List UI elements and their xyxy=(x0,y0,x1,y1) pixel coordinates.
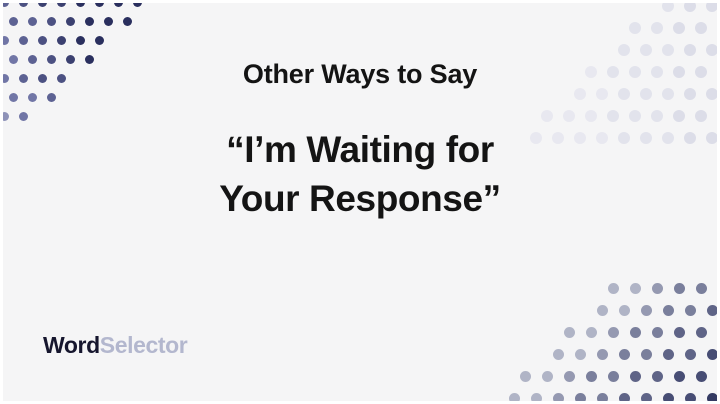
decorative-dot xyxy=(641,393,652,404)
headline-line-1: “I’m Waiting for xyxy=(0,126,720,175)
decorative-dot xyxy=(564,371,575,382)
decorative-dot xyxy=(652,371,663,382)
decorative-dot xyxy=(662,44,674,56)
decorative-dot xyxy=(95,0,104,7)
decorative-dot xyxy=(652,283,663,294)
decorative-dot xyxy=(640,44,652,56)
decorative-dot xyxy=(114,0,123,7)
decorative-dot xyxy=(28,17,37,26)
decorative-dot xyxy=(597,349,608,360)
decorative-dot xyxy=(597,305,608,316)
decorative-dot xyxy=(696,327,707,338)
decorative-dot xyxy=(684,44,696,56)
decorative-dot xyxy=(575,393,586,404)
decorative-dot xyxy=(520,371,531,382)
decorative-dot xyxy=(663,305,674,316)
decorative-dot xyxy=(695,22,707,34)
decorative-dot xyxy=(619,349,630,360)
logo-primary-text: Word xyxy=(43,332,100,358)
decorative-dot xyxy=(9,17,18,26)
decorative-dot xyxy=(47,17,56,26)
decorative-dot xyxy=(663,393,674,404)
decorative-dot xyxy=(553,349,564,360)
decorative-dot xyxy=(542,371,553,382)
decorative-dot xyxy=(707,305,718,316)
decorative-dot xyxy=(630,327,641,338)
decorative-dot xyxy=(663,349,674,360)
decorative-dot xyxy=(685,349,696,360)
decorative-dot xyxy=(586,371,597,382)
presentation-slide: Other Ways to Say “I’m Waiting for Your … xyxy=(0,0,720,404)
decorative-dot xyxy=(57,36,66,45)
decorative-dot xyxy=(553,393,564,404)
decorative-dot xyxy=(662,0,674,12)
decorative-dot xyxy=(0,0,9,7)
decorative-dot xyxy=(674,327,685,338)
decorative-dot xyxy=(564,327,575,338)
slide-headline: “I’m Waiting for Your Response” xyxy=(0,90,720,224)
decorative-dot xyxy=(531,393,542,404)
decorative-dot xyxy=(685,305,696,316)
decorative-dot xyxy=(641,349,652,360)
brand-logo: WordSelector xyxy=(43,334,187,357)
decorative-dot xyxy=(674,283,685,294)
decorative-dot xyxy=(19,0,28,7)
decorative-dot xyxy=(696,283,707,294)
decorative-dot xyxy=(674,371,685,382)
decorative-dot xyxy=(509,393,520,404)
slide-text-block: Other Ways to Say “I’m Waiting for Your … xyxy=(0,58,720,224)
decorative-dot xyxy=(608,327,619,338)
headline-line-2: Your Response” xyxy=(0,175,720,224)
decorative-dot xyxy=(673,22,685,34)
decorative-dot xyxy=(66,17,75,26)
decorative-dot xyxy=(123,17,132,26)
decorative-dot xyxy=(630,283,641,294)
decorative-dot xyxy=(619,393,630,404)
decorative-dot xyxy=(684,0,696,12)
decorative-dot xyxy=(707,349,718,360)
decorative-dot xyxy=(630,371,641,382)
decorative-dot xyxy=(619,305,630,316)
decorative-dot xyxy=(38,36,47,45)
decorative-dot xyxy=(85,17,94,26)
decorative-dot xyxy=(76,0,85,7)
decorative-dot xyxy=(707,393,718,404)
decorative-dot xyxy=(586,327,597,338)
decorative-dot xyxy=(76,36,85,45)
decorative-dot xyxy=(706,44,718,56)
decorative-dot xyxy=(651,22,663,34)
decorative-dot xyxy=(104,17,113,26)
decorative-dot xyxy=(652,327,663,338)
decorative-dot xyxy=(641,305,652,316)
dot-pattern-bottom-right-icon xyxy=(505,284,720,404)
logo-secondary-text: Selector xyxy=(100,332,188,358)
decorative-dot xyxy=(38,0,47,7)
decorative-dot xyxy=(95,36,104,45)
decorative-dot xyxy=(696,371,707,382)
decorative-dot xyxy=(57,0,66,7)
decorative-dot xyxy=(133,0,142,7)
decorative-dot xyxy=(706,0,718,12)
decorative-dot xyxy=(575,349,586,360)
slide-eyebrow: Other Ways to Say xyxy=(0,58,720,90)
decorative-dot xyxy=(608,371,619,382)
decorative-dot xyxy=(618,44,630,56)
decorative-dot xyxy=(19,36,28,45)
decorative-dot xyxy=(629,22,641,34)
decorative-dot xyxy=(608,283,619,294)
decorative-dot xyxy=(685,393,696,404)
decorative-dot xyxy=(0,36,9,45)
decorative-dot xyxy=(597,393,608,404)
